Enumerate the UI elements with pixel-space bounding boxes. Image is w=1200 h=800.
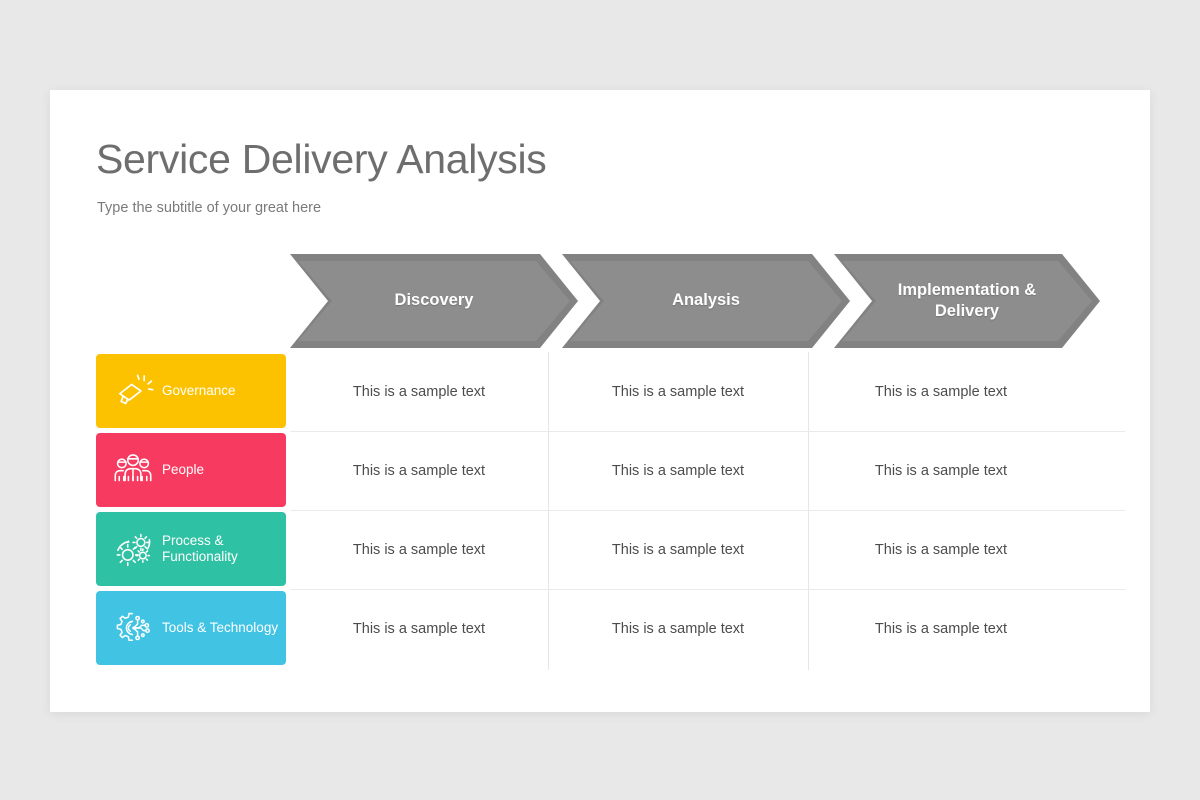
megaphone-icon	[110, 368, 156, 414]
category-tile-people[interactable]: People	[96, 433, 286, 507]
chevron-label: Implementation & Delivery	[834, 280, 1100, 323]
gears-icon	[110, 526, 156, 572]
table-cell[interactable]: This is a sample text	[548, 510, 808, 589]
table-cell[interactable]: This is a sample text	[808, 431, 1074, 510]
table-cell[interactable]: This is a sample text	[290, 431, 548, 510]
chevron-label: Analysis	[642, 290, 770, 311]
page-title: Service Delivery Analysis	[96, 136, 547, 183]
table-body: This is a sample text This is a sample t…	[290, 352, 1120, 670]
chevron-header-implementation-delivery[interactable]: Implementation & Delivery	[834, 254, 1100, 348]
people-group-icon	[110, 447, 156, 493]
table-cell[interactable]: This is a sample text	[548, 589, 808, 668]
page-subtitle: Type the subtitle of your great here	[97, 200, 321, 216]
slide-card: Service Delivery Analysis Type the subti…	[50, 90, 1150, 712]
category-label: Process & Functionality	[162, 533, 286, 566]
tech-gear-icon	[110, 605, 156, 651]
category-label: Governance	[162, 383, 236, 399]
chevron-header-row: Discovery Analysis Implementation & Deli…	[290, 254, 1100, 348]
table-cell[interactable]: This is a sample text	[290, 510, 548, 589]
chevron-header-discovery[interactable]: Discovery	[290, 254, 578, 348]
table-cell[interactable]: This is a sample text	[808, 352, 1074, 431]
category-label: Tools & Technology	[162, 620, 278, 636]
category-tile-governance[interactable]: Governance	[96, 354, 286, 428]
table-cell[interactable]: This is a sample text	[290, 589, 548, 668]
table-cell[interactable]: This is a sample text	[548, 352, 808, 431]
table-cell[interactable]: This is a sample text	[290, 352, 548, 431]
category-tile-process-functionality[interactable]: Process & Functionality	[96, 512, 286, 586]
table-cell[interactable]: This is a sample text	[548, 431, 808, 510]
chevron-header-analysis[interactable]: Analysis	[562, 254, 850, 348]
table-cell[interactable]: This is a sample text	[808, 510, 1074, 589]
category-label: People	[162, 462, 204, 478]
table-cell[interactable]: This is a sample text	[808, 589, 1074, 668]
chevron-label: Discovery	[365, 290, 504, 311]
category-tile-tools-technology[interactable]: Tools & Technology	[96, 591, 286, 665]
